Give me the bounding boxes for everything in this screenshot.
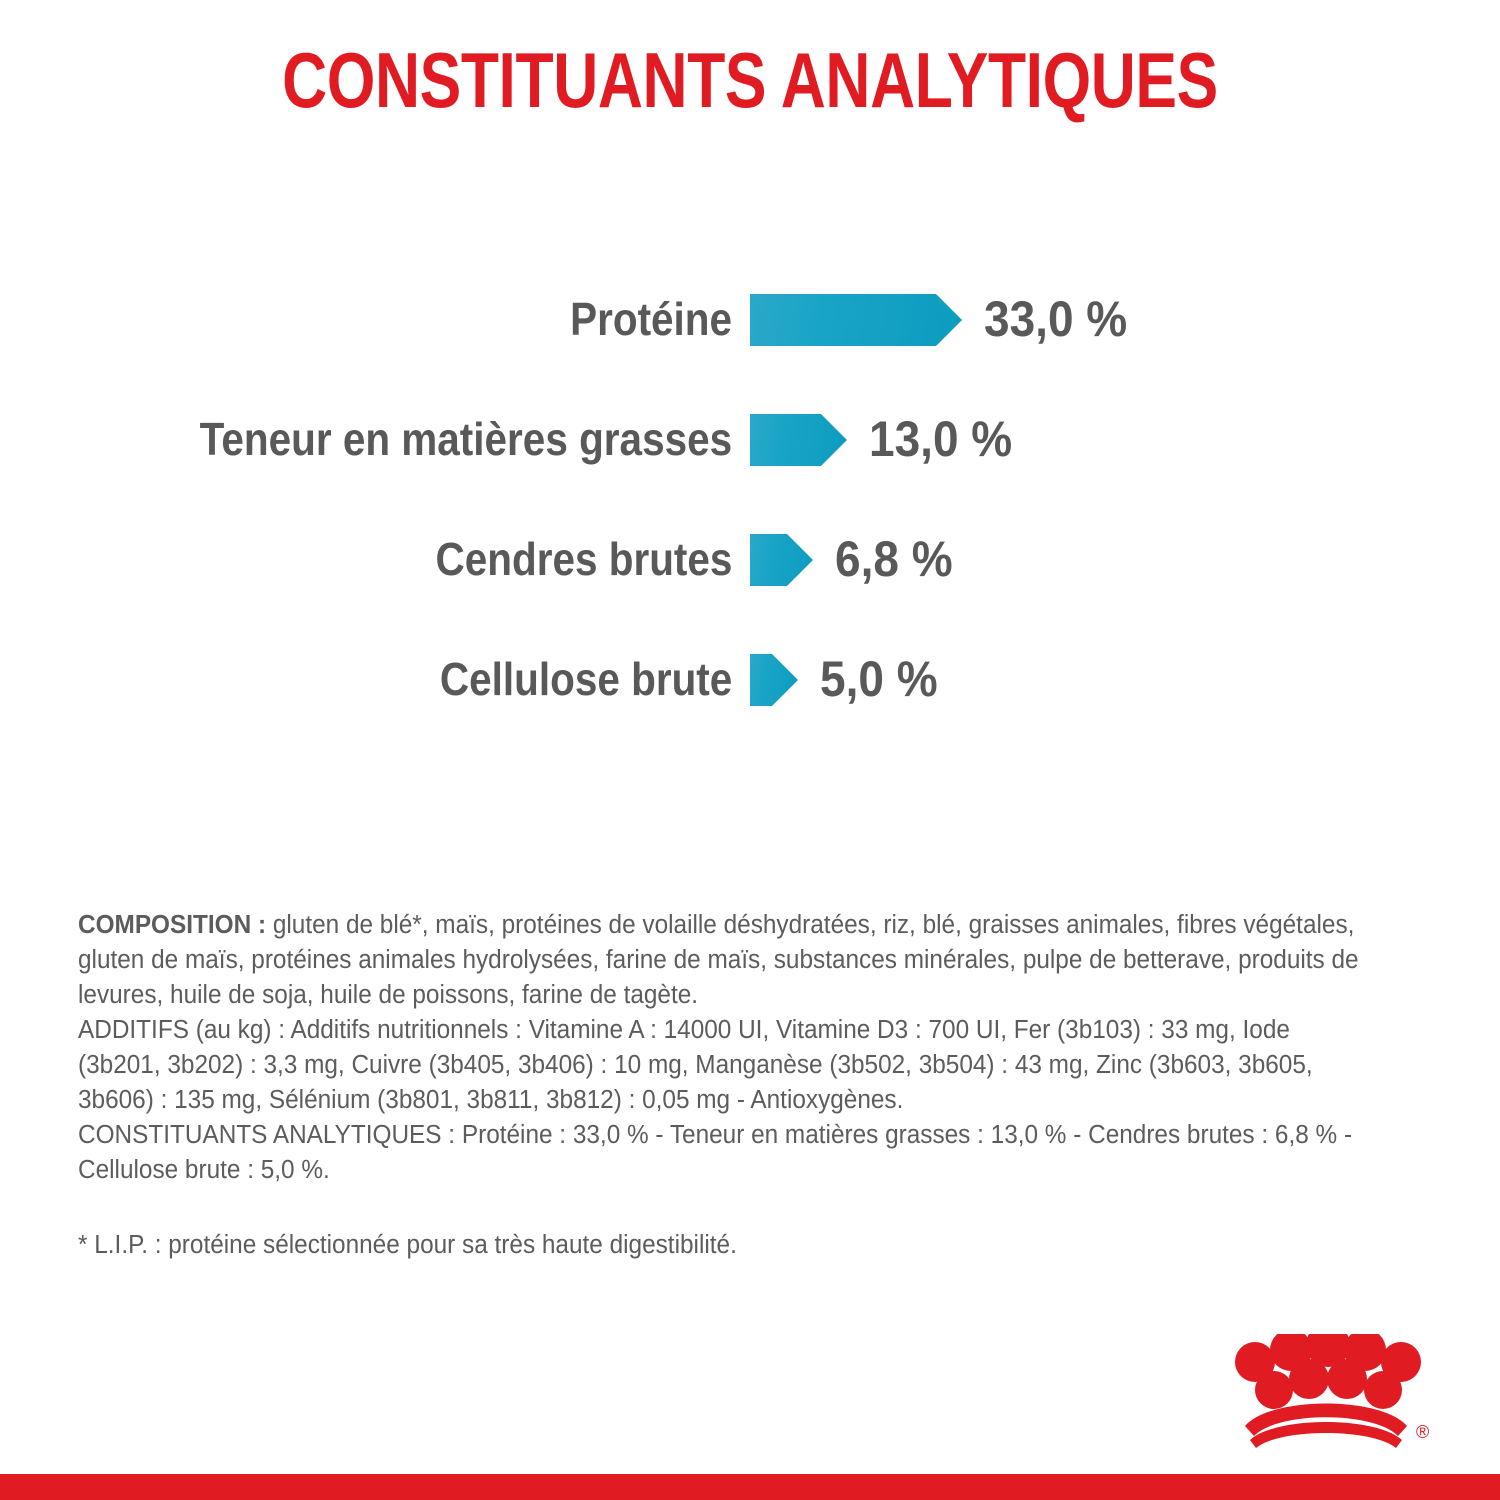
footer-red-bar <box>0 1474 1500 1500</box>
bar-label-wrap: Cendres brutes <box>0 528 750 590</box>
bar-label-wrap: Teneur en matières grasses <box>0 408 750 470</box>
composition-additives: ADDITIFS (au kg) : Additifs nutritionnel… <box>78 1013 1362 1118</box>
composition-heading: COMPOSITION : <box>78 911 266 939</box>
bar-track <box>750 294 962 346</box>
nutrition-panel: CONSTITUANTS ANALYTIQUES Protéine 33,0 %… <box>0 0 1500 1500</box>
composition-ingredients-text: gluten de blé*, maïs, protéines de volai… <box>78 911 1359 1009</box>
page-title: CONSTITUANTS ANALYTIQUES <box>150 34 1350 126</box>
bar-label: Teneur en matières grasses <box>199 408 732 470</box>
bar-track <box>750 654 798 706</box>
bar-value: 6,8 % <box>835 526 953 592</box>
bar-value: 33,0 % <box>984 286 1127 352</box>
registered-mark: ® <box>1416 1422 1429 1442</box>
bar-row: Cendres brutes 6,8 % <box>0 520 1500 640</box>
bar-label: Cendres brutes <box>435 528 732 590</box>
bar-shape <box>750 414 847 466</box>
bar-track <box>750 414 847 466</box>
lip-footnote: * L.I.P. : protéine sélectionnée pour sa… <box>78 1228 1224 1263</box>
bar-value: 5,0 % <box>820 646 938 712</box>
composition-analytical: CONSTITUANTS ANALYTIQUES : Protéine : 33… <box>78 1118 1362 1188</box>
composition-block: COMPOSITION : gluten de blé*, maïs, prot… <box>78 908 1423 1188</box>
bar-row: Cellulose brute 5,0 % <box>0 640 1500 760</box>
bar-value: 13,0 % <box>869 406 1012 472</box>
royal-canin-crown-logo: ® <box>1216 1334 1436 1452</box>
bar-label-wrap: Cellulose brute <box>0 648 750 710</box>
composition-ingredients: COMPOSITION : gluten de blé*, maïs, prot… <box>78 908 1362 1013</box>
bar-shape <box>750 294 962 346</box>
bar-label-wrap: Protéine <box>0 288 750 350</box>
bar-row: Protéine 33,0 % <box>0 280 1500 400</box>
bar-track <box>750 534 813 586</box>
analytical-constituents-chart: Protéine 33,0 % Teneur en matières grass… <box>0 280 1500 760</box>
bar-shape <box>750 534 813 586</box>
bar-row: Teneur en matières grasses 13,0 % <box>0 400 1500 520</box>
bar-label: Cellulose brute <box>440 648 732 710</box>
bar-shape <box>750 654 798 706</box>
bar-label: Protéine <box>570 288 732 350</box>
